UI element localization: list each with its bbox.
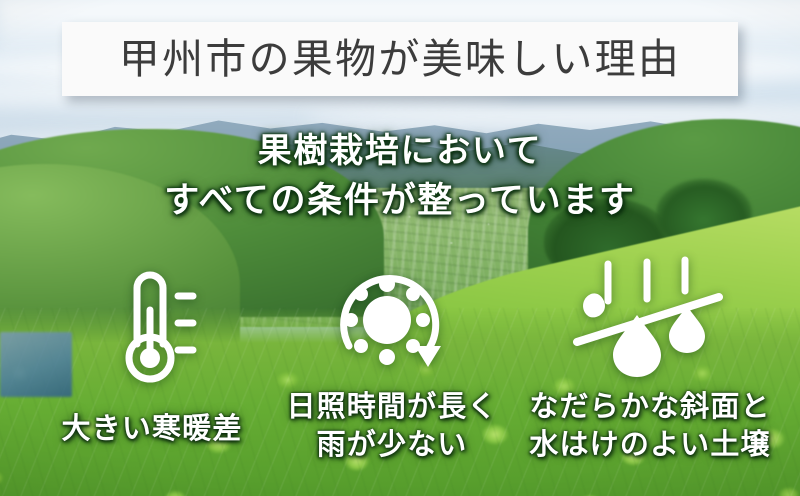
feature-caption: 大きい寒暖差 xyxy=(32,410,272,448)
subtitle-block: 果樹栽培において すべての条件が整っています xyxy=(0,128,800,226)
subtitle-line-2: すべての条件が整っています xyxy=(0,176,800,226)
promo-banner: 甲州市の果物が美味しい理由 果樹栽培において すべての条件が整っています xyxy=(0,0,800,496)
caption-line: 日照時間が長く xyxy=(272,388,512,426)
thermometer-icon xyxy=(94,266,210,388)
caption-line: なだらかな斜面と xyxy=(510,388,790,426)
caption-line: 雨が少ない xyxy=(272,426,512,464)
feature-temperature-range: 大きい寒暖差 xyxy=(32,262,272,448)
feature-sunshine: 日照時間が長く 雨が少ない xyxy=(272,262,512,465)
feature-caption: なだらかな斜面と 水はけのよい土壌 xyxy=(510,388,790,465)
slope-drainage-icon xyxy=(575,258,725,380)
caption-line: 水はけのよい土壌 xyxy=(510,426,790,464)
sun-rotation-icon xyxy=(327,258,457,382)
page-title: 甲州市の果物が美味しい理由 xyxy=(119,39,681,80)
feature-icon-wrap xyxy=(272,262,512,382)
feature-slope-drainage: なだらかな斜面と 水はけのよい土壌 xyxy=(510,262,790,465)
subtitle-line-1: 果樹栽培において xyxy=(0,128,800,176)
title-band: 甲州市の果物が美味しい理由 xyxy=(62,22,738,96)
feature-caption: 日照時間が長く 雨が少ない xyxy=(272,388,512,465)
feature-icon-wrap xyxy=(32,262,272,388)
feature-row: 大きい寒暖差 xyxy=(0,262,800,496)
feature-icon-wrap xyxy=(510,262,790,380)
caption-line: 大きい寒暖差 xyxy=(32,410,272,448)
